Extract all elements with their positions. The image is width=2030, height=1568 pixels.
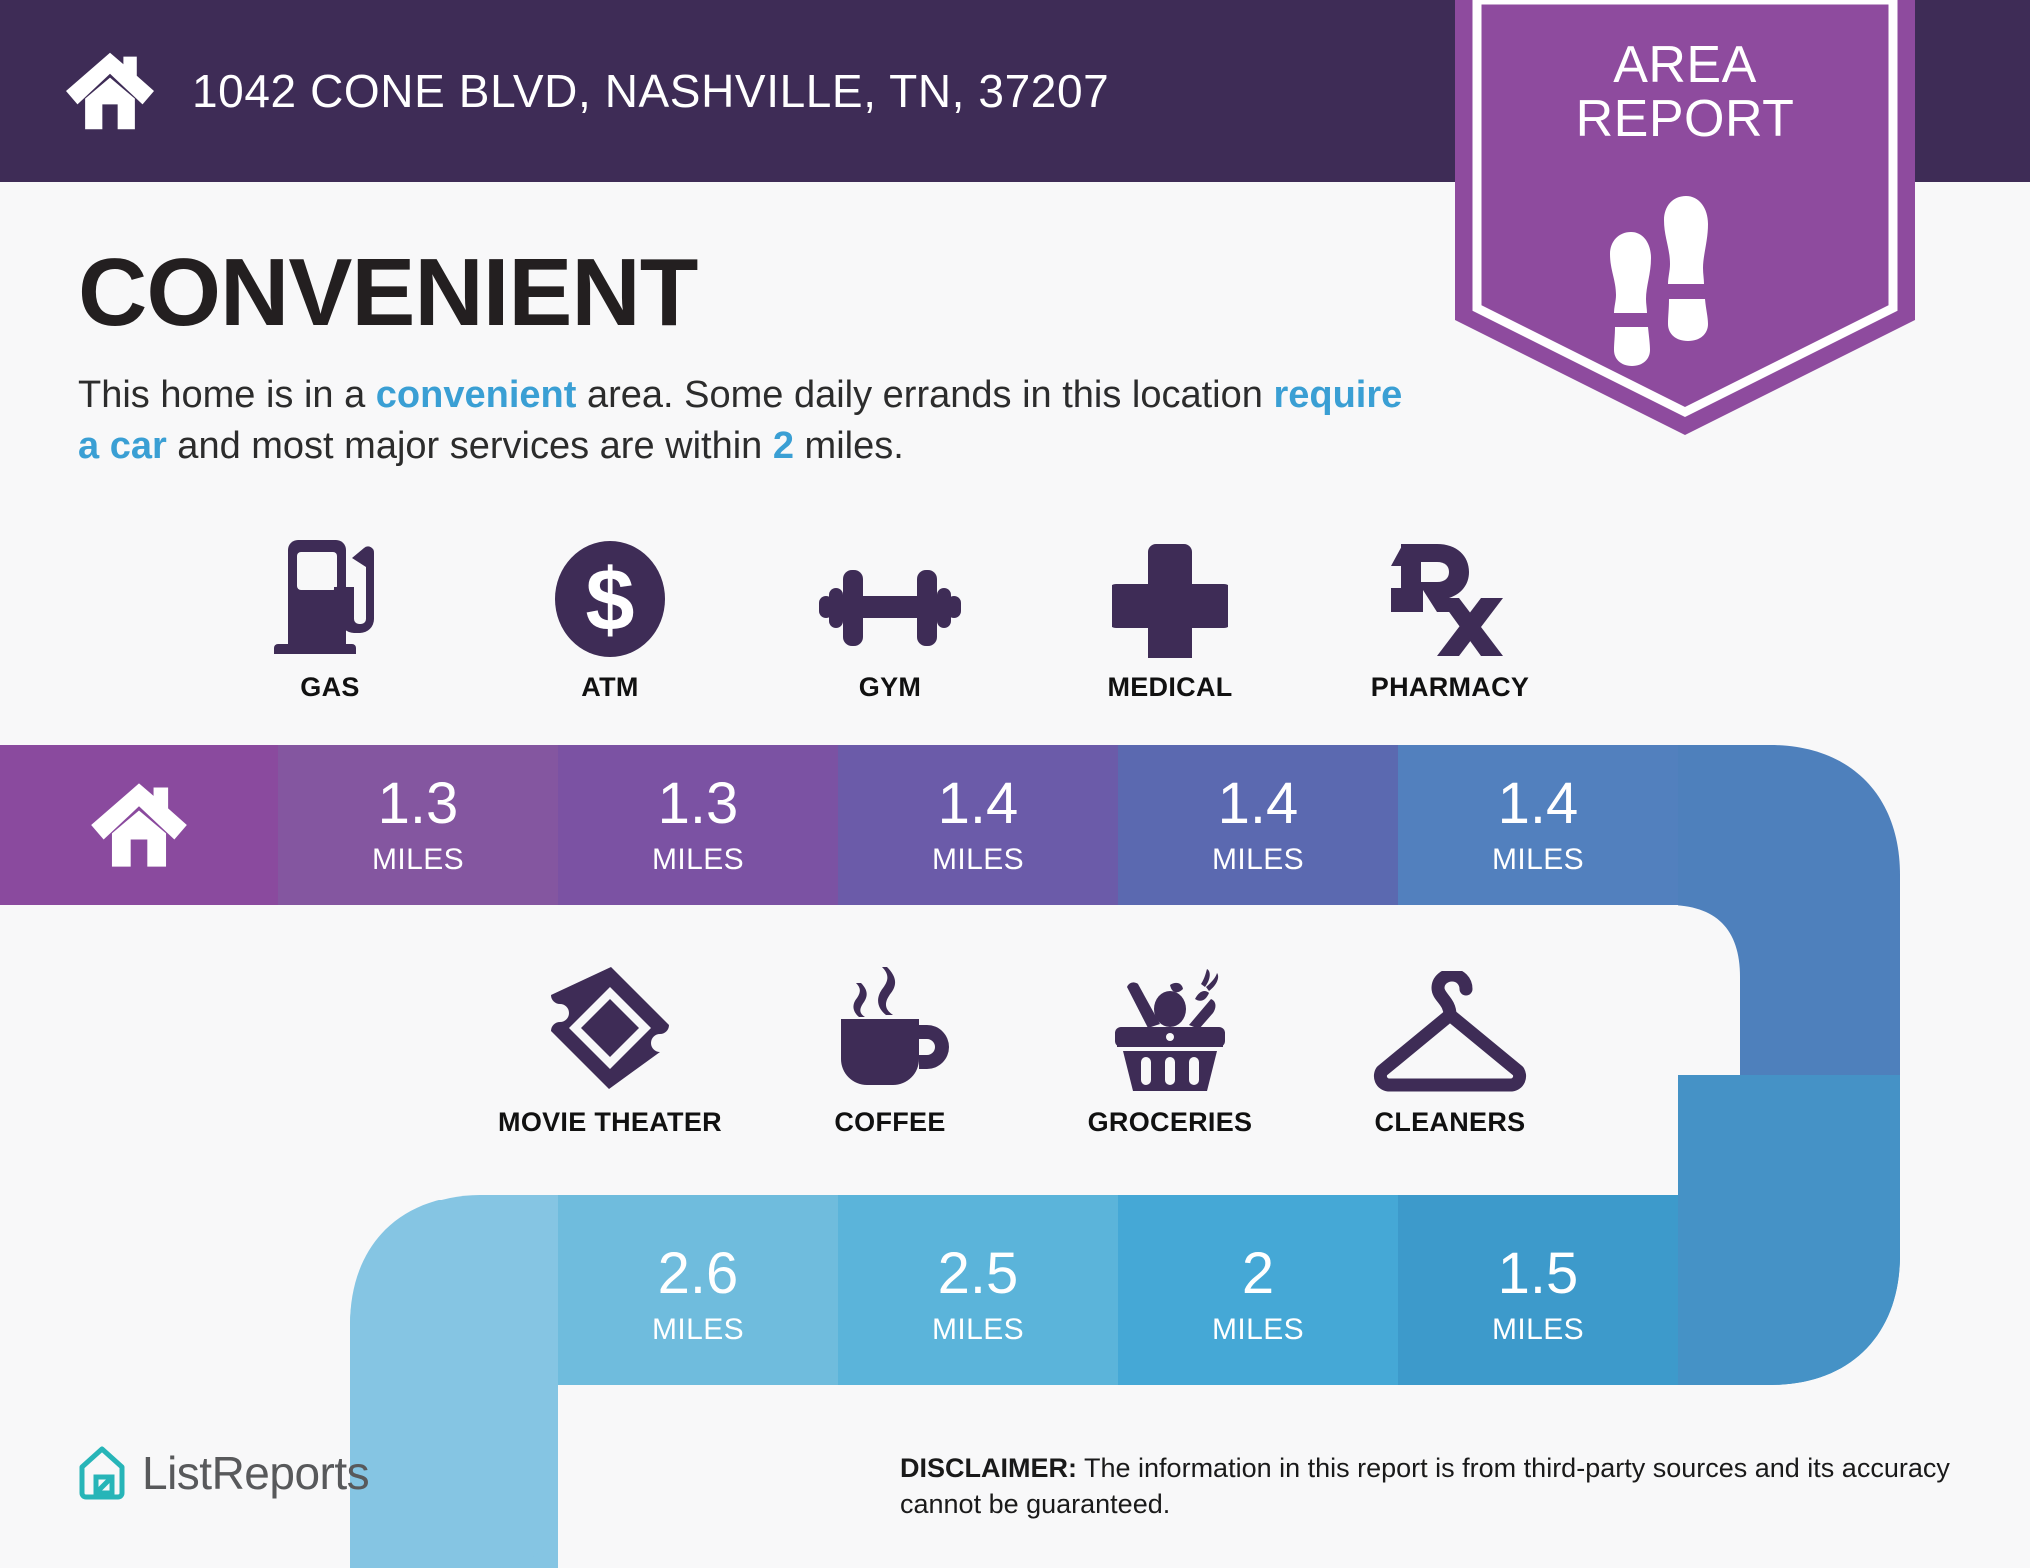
lower-tail-notch xyxy=(558,1385,640,1445)
listreports-logo-text: ListReports xyxy=(142,1446,369,1500)
amenity-icon-gym[interactable]: GYM xyxy=(750,540,1030,703)
lower-turn-right xyxy=(1678,1075,1900,1385)
amenity-label-pharmacy: PHARMACY xyxy=(1371,672,1529,703)
amenity-label-gas: GAS xyxy=(300,672,359,703)
amenity-icon-movie-theater[interactable]: MOVIE THEATER xyxy=(470,975,750,1138)
svg-text:$: $ xyxy=(586,550,635,649)
amenity-icon-groceries[interactable]: GROCERIES xyxy=(1030,975,1310,1138)
coffee-cup-icon xyxy=(825,975,955,1093)
amenity-label-gym: GYM xyxy=(859,672,921,703)
amenity-label-medical: MEDICAL xyxy=(1107,672,1232,703)
amenity-icon-row-1: GAS $ ATM xyxy=(190,540,1590,703)
lower-movie xyxy=(558,1195,838,1385)
amenity-label-coffee: COFFEE xyxy=(834,1107,945,1138)
amenity-label-groceries: GROCERIES xyxy=(1088,1107,1253,1138)
desc-highlight-miles: 2 xyxy=(773,425,794,467)
listreports-logo[interactable]: ListReports xyxy=(78,1445,369,1501)
clothes-hanger-icon xyxy=(1366,975,1534,1093)
amenity-label-atm: ATM xyxy=(581,672,638,703)
lower-turn-left xyxy=(350,1195,558,1385)
amenity-icon-cleaners[interactable]: CLEANERS xyxy=(1310,975,1590,1138)
amenity-icon-atm[interactable]: $ ATM xyxy=(470,540,750,703)
amenity-label-cleaners: CLEANERS xyxy=(1375,1107,1526,1138)
medical-cross-icon xyxy=(1112,540,1228,658)
home-icon xyxy=(62,47,158,135)
amenity-icon-pharmacy[interactable]: PHARMACY xyxy=(1310,540,1590,703)
amenity-icon-row-2: MOVIE THEATER COFFEE xyxy=(470,975,1590,1138)
listreports-house-icon xyxy=(78,1445,126,1501)
amenity-icon-medical[interactable]: MEDICAL xyxy=(1030,540,1310,703)
badge-title: AREA REPORT xyxy=(1455,38,1915,146)
gas-pump-icon xyxy=(266,540,394,658)
description-text: This home is in a convenient area. Some … xyxy=(78,370,1408,471)
movie-ticket-icon xyxy=(545,975,675,1093)
dollar-coin-icon: $ xyxy=(551,540,669,658)
badge-line-2: REPORT xyxy=(1576,90,1795,148)
page-title: CONVENIENT xyxy=(78,238,697,348)
desc-part-1: This home is in a xyxy=(78,374,376,416)
disclaimer-label: DISCLAIMER: xyxy=(900,1453,1077,1483)
desc-part-2: area. Some daily errands in this locatio… xyxy=(576,374,1273,416)
lower-cleaners xyxy=(1398,1195,1678,1385)
desc-part-3: and most major services are within xyxy=(167,425,773,467)
lower-groceries xyxy=(1118,1195,1398,1385)
disclaimer: DISCLAIMER: The information in this repo… xyxy=(900,1450,1960,1523)
amenity-icon-coffee[interactable]: COFFEE xyxy=(750,975,1030,1138)
lower-coffee xyxy=(838,1195,1118,1385)
desc-part-4: miles. xyxy=(794,425,904,467)
amenity-label-movie-theater: MOVIE THEATER xyxy=(498,1107,722,1138)
lower-tail xyxy=(350,1385,558,1568)
rx-icon xyxy=(1391,540,1509,658)
area-report-badge: AREA REPORT xyxy=(1455,0,1915,435)
desc-highlight-convenient: convenient xyxy=(376,374,577,416)
property-address: 1042 CONE BLVD, NASHVILLE, TN, 37207 xyxy=(192,64,1109,118)
grocery-basket-icon xyxy=(1103,975,1237,1093)
area-report-page: 1042 CONE BLVD, NASHVILLE, TN, 37207 ARE… xyxy=(0,0,2030,1568)
badge-line-1: AREA xyxy=(1613,36,1757,94)
amenity-icon-gas[interactable]: GAS xyxy=(190,540,470,703)
dumbbell-icon xyxy=(815,540,965,658)
